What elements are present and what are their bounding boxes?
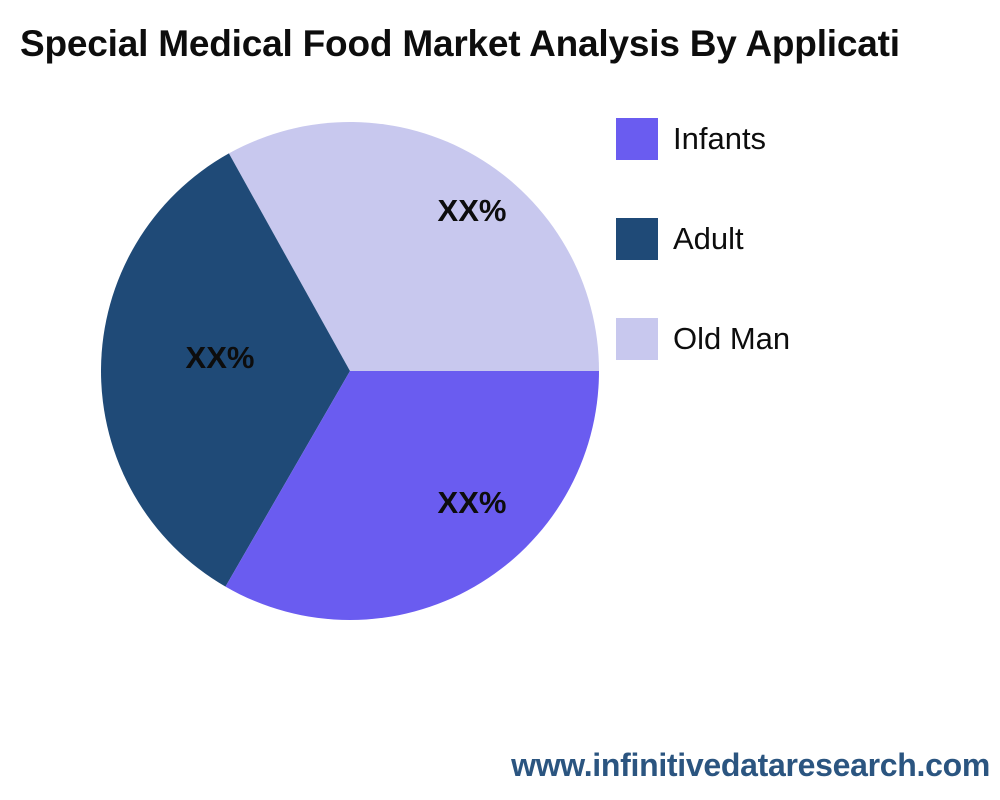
pie-chart-svg: XX%XX%XX% [0, 0, 660, 700]
legend-item-adult[interactable]: Adult [616, 218, 986, 260]
legend-swatch-infants-icon [616, 118, 658, 160]
pie-chart-area: XX%XX%XX% [0, 0, 660, 700]
pie-slice-label-infants: XX% [438, 485, 507, 520]
pie-slice-label-adult: XX% [186, 340, 255, 375]
pie-slice-label-old-man: XX% [438, 193, 507, 228]
legend-swatch-adult-icon [616, 218, 658, 260]
legend-label-old-man: Old Man [673, 318, 790, 360]
legend-label-infants: Infants [673, 118, 766, 160]
legend-label-adult: Adult [673, 218, 744, 260]
legend-swatch-old-man-icon [616, 318, 658, 360]
legend-item-infants[interactable]: Infants [616, 118, 986, 160]
chart-legend: Infants Adult Old Man [616, 118, 986, 418]
pie-slice-group [101, 122, 599, 620]
legend-item-old-man[interactable]: Old Man [616, 318, 986, 360]
source-website-url: www.infinitivedataresearch.com [511, 747, 990, 784]
chart-container: Special Medical Food Market Analysis By … [0, 0, 1000, 800]
